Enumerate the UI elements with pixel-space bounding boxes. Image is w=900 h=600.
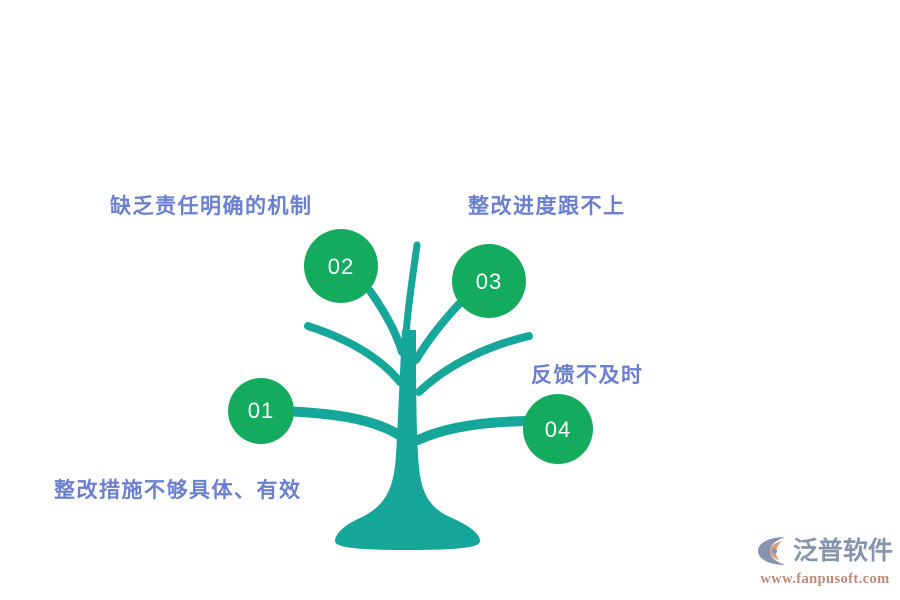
- branch-to-node-03: [416, 303, 460, 360]
- leaf-swirl-icon: [755, 534, 789, 568]
- node-label-03: 整改进度跟不上: [468, 190, 626, 220]
- infographic-canvas: 01 02 03 04 整改措施不够具体、有效 缺乏责任明确的机制 整改进度跟不…: [0, 0, 900, 600]
- logo-url-text: www.fanpusoft.com: [755, 571, 895, 588]
- branch-upper-right: [419, 336, 529, 392]
- logo-brand-text: 泛普软件: [793, 534, 893, 568]
- node-number-03: 03: [476, 269, 502, 295]
- branch-to-node-01: [282, 411, 399, 435]
- node-number-02: 02: [328, 254, 354, 280]
- branch-upper-left: [308, 326, 400, 382]
- branch-to-node-04: [418, 421, 536, 440]
- node-label-01: 整改措施不够具体、有效: [54, 474, 302, 504]
- branch-center-top: [406, 245, 417, 335]
- watermark-logo: 泛普软件 www.fanpusoft.com: [755, 533, 895, 595]
- node-label-02: 缺乏责任明确的机制: [110, 190, 313, 220]
- node-number-04: 04: [545, 417, 571, 443]
- node-label-04: 反馈不及时: [531, 359, 644, 389]
- tree-graphic: [0, 0, 900, 600]
- logo-row: 泛普软件: [755, 533, 895, 569]
- branch-to-node-02: [370, 291, 402, 352]
- node-number-01: 01: [248, 398, 274, 424]
